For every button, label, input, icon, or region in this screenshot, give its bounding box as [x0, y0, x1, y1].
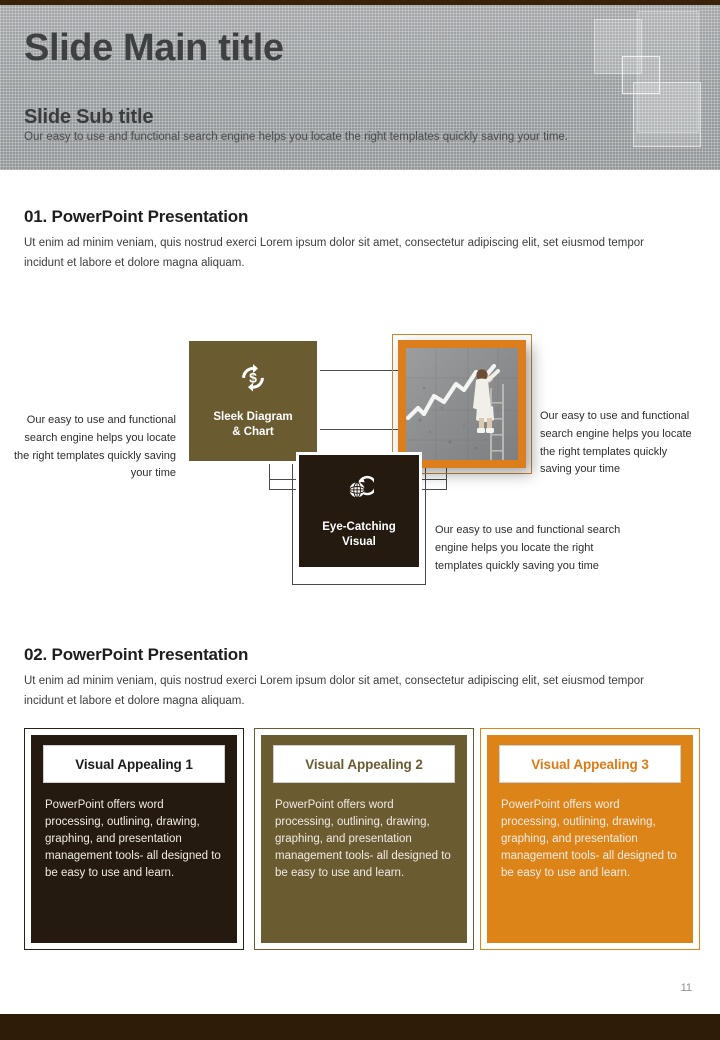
card-title: Visual Appealing 1	[75, 757, 193, 772]
globe-refresh-icon	[344, 473, 374, 508]
card-body: PowerPoint offers word processing, outli…	[499, 797, 681, 882]
recycle-dollar-icon: $	[238, 363, 268, 398]
card-visual-appealing-3[interactable]: Visual Appealing 3 PowerPoint offers wor…	[480, 728, 700, 950]
card-title-box: Visual Appealing 3	[499, 745, 681, 783]
section-1-body: Ut enim ad minim veniam, quis nostrud ex…	[24, 234, 684, 274]
card-title: Visual Appealing 2	[305, 757, 423, 772]
diagram-caption-right: Our easy to use and functional search en…	[540, 408, 695, 479]
card-visual-appealing-1[interactable]: Visual Appealing 1 PowerPoint offers wor…	[24, 728, 244, 950]
slide-sub-description: Our easy to use and functional search en…	[24, 129, 640, 147]
slide-sub-title: Slide Sub title	[24, 106, 153, 129]
page-number: 11	[681, 982, 692, 994]
slide-main-title: Slide Main title	[24, 29, 284, 69]
card-visual-appealing-2[interactable]: Visual Appealing 2 PowerPoint offers wor…	[254, 728, 474, 950]
footer-bar	[0, 1014, 720, 1040]
section-2-heading: 02. PowerPoint Presentation	[24, 645, 248, 665]
diagram-node-sleek-diagram-chart[interactable]: $ Sleek Diagram & Chart	[186, 338, 320, 464]
card-title-box: Visual Appealing 1	[43, 745, 225, 783]
card-inner: Visual Appealing 3 PowerPoint offers wor…	[487, 735, 693, 943]
section-2-body: Ut enim ad minim veniam, quis nostrud ex…	[24, 672, 684, 712]
card-inner: Visual Appealing 2 PowerPoint offers wor…	[261, 735, 467, 943]
card-body: PowerPoint offers word processing, outli…	[273, 797, 455, 882]
diagram-node-label: Eye-Catching Visual	[322, 520, 396, 549]
diagram-caption-bottom: Our easy to use and functional search en…	[435, 522, 635, 575]
slide-header-banner: Slide Main title Slide Sub title Our eas…	[0, 5, 720, 173]
card-title-box: Visual Appealing 2	[273, 745, 455, 783]
chart-wall-photo	[406, 348, 518, 460]
decorative-square-4	[633, 82, 701, 147]
card-inner: Visual Appealing 1 PowerPoint offers wor…	[31, 735, 237, 943]
card-row: Visual Appealing 1 PowerPoint offers wor…	[0, 728, 720, 950]
card-title: Visual Appealing 3	[531, 757, 649, 772]
diagram-caption-left: Our easy to use and functional search en…	[12, 412, 176, 483]
diagram-photo-frame[interactable]	[398, 340, 526, 468]
section-1-heading: 01. PowerPoint Presentation	[24, 207, 248, 227]
card-body: PowerPoint offers word processing, outli…	[43, 797, 225, 882]
diagram-node-eye-catching-visual[interactable]: Eye-Catching Visual	[296, 452, 422, 570]
diagram-node-label: Sleek Diagram & Chart	[213, 410, 292, 439]
svg-text:$: $	[249, 370, 257, 386]
